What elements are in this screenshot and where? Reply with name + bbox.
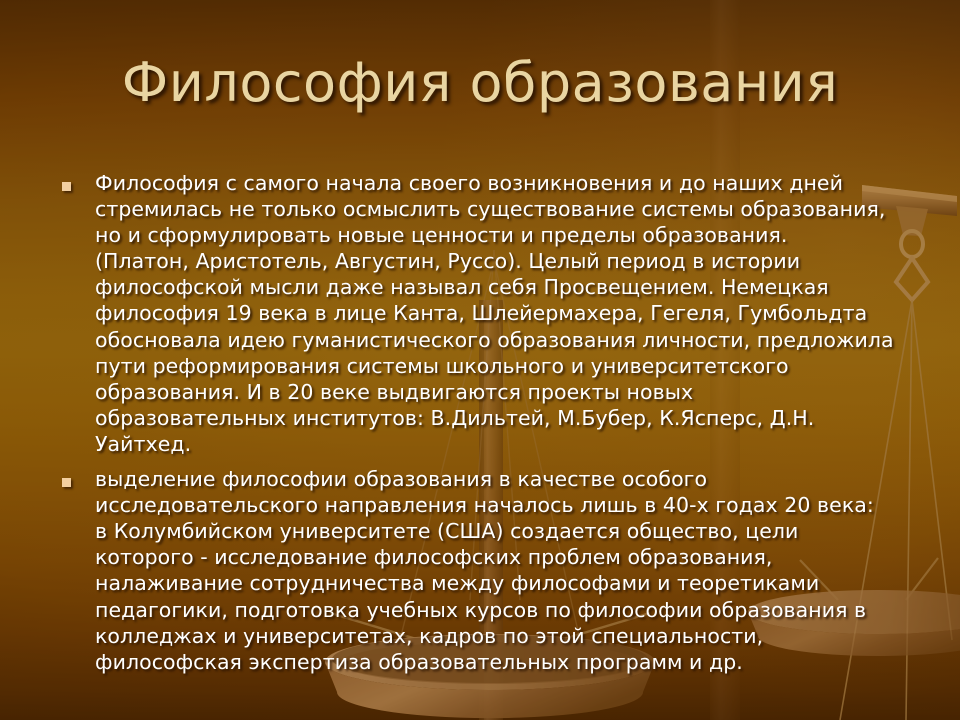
square-bullet-icon [56,466,95,487]
slide-body: Философия с самого начала своего возникн… [56,170,918,675]
presentation-slide: Философия образования Философия с самого… [0,0,960,720]
square-bullet-icon [56,170,95,191]
bullet-paragraph-1: Философия с самого начала своего возникн… [95,170,918,457]
slide-title: Философия образования [0,52,960,114]
list-item: выделение философии образования в качест… [56,466,918,675]
bullet-paragraph-2: выделение философии образования в качест… [95,466,918,675]
list-item: Философия с самого начала своего возникн… [56,170,918,457]
